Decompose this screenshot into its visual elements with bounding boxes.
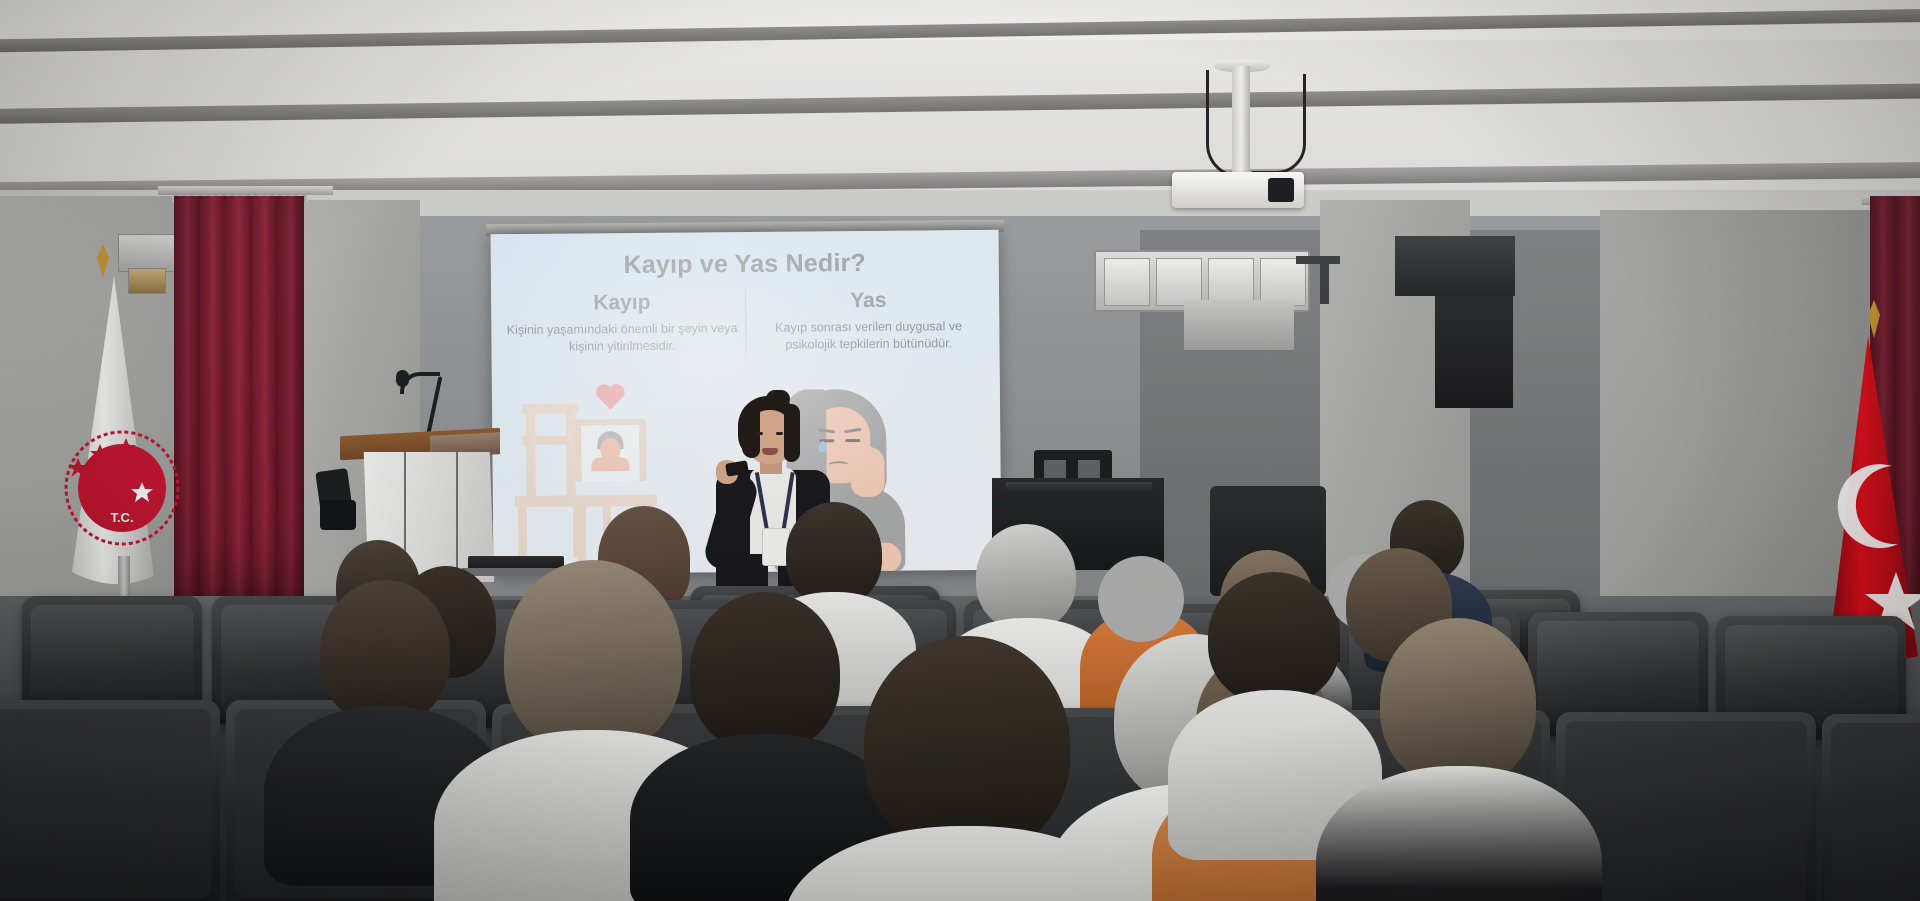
head xyxy=(786,502,882,606)
ceiling-beam xyxy=(0,83,1920,124)
slide-column-body: Kayıp sonrası verilen duygusal ve psikol… xyxy=(752,318,986,355)
heart-icon xyxy=(595,385,625,412)
loudspeaker-base xyxy=(320,500,356,530)
chair-top-rail xyxy=(522,403,579,413)
slide-columns: Kayıp Kişinin yaşamındaki önemli bir şey… xyxy=(499,288,992,357)
light-segment xyxy=(1156,258,1202,306)
wall-bracket xyxy=(1296,256,1340,264)
head xyxy=(1208,572,1340,704)
head xyxy=(976,524,1076,630)
presenter-hair-side xyxy=(784,404,800,462)
presenter-eye xyxy=(776,432,783,435)
head xyxy=(1380,618,1536,786)
presenter-eye xyxy=(756,432,763,435)
presenter-hair-side xyxy=(742,404,760,458)
portrait-body xyxy=(591,457,629,471)
slide-column-kayip: Kayıp Kişinin yaşamındaki önemli bir şey… xyxy=(499,290,746,357)
slide-column-yas: Yas Kayıp sonrası verilen duygusal ve ps… xyxy=(746,288,992,355)
projector-lens xyxy=(1268,178,1294,202)
seat xyxy=(0,700,220,901)
wall-light-fixture-lower xyxy=(1184,300,1294,350)
wall-light-fixture xyxy=(118,234,178,272)
wall-vent xyxy=(1395,236,1515,296)
lectern-seam xyxy=(456,452,458,582)
woman-eye xyxy=(845,439,860,442)
wall-bracket xyxy=(1320,262,1329,304)
head xyxy=(504,560,682,754)
chair-leg xyxy=(573,505,581,557)
presenter-mouth xyxy=(762,448,778,455)
curtain-rod xyxy=(158,186,333,195)
head xyxy=(690,592,840,752)
woman-hand xyxy=(850,447,884,497)
auditorium-scene: Kayıp ve Yas Nedir? Kayıp Kişinin yaşamı… xyxy=(0,0,1920,901)
slide-title: Kayıp ve Yas Nedir? xyxy=(491,248,999,281)
chair-mid-rail xyxy=(522,435,579,444)
ministry-flag: T.C. xyxy=(36,276,196,596)
chair-leg xyxy=(518,506,527,562)
light-segment xyxy=(1208,258,1254,306)
wall-vent xyxy=(1435,296,1513,408)
projector-cable xyxy=(1252,74,1306,174)
slide-column-heading: Yas xyxy=(752,288,986,314)
slide-column-body: Kişinin yaşamındaki önemli bir şeyin vey… xyxy=(505,320,739,357)
light-segment xyxy=(1104,258,1150,306)
piano-keybed xyxy=(1006,482,1152,492)
projector-cable xyxy=(1206,70,1252,178)
light-segment xyxy=(1260,258,1306,306)
slide-column-heading: Kayıp xyxy=(505,290,739,316)
privacy-blur xyxy=(1098,556,1184,642)
photo-frame xyxy=(574,419,647,482)
chair-back-post xyxy=(526,404,536,504)
photo-frame-inner xyxy=(581,425,639,482)
svg-text:T.C.: T.C. xyxy=(110,510,133,525)
head xyxy=(320,580,450,724)
ceiling xyxy=(0,0,1920,205)
seat xyxy=(1822,714,1920,901)
head xyxy=(864,636,1070,854)
